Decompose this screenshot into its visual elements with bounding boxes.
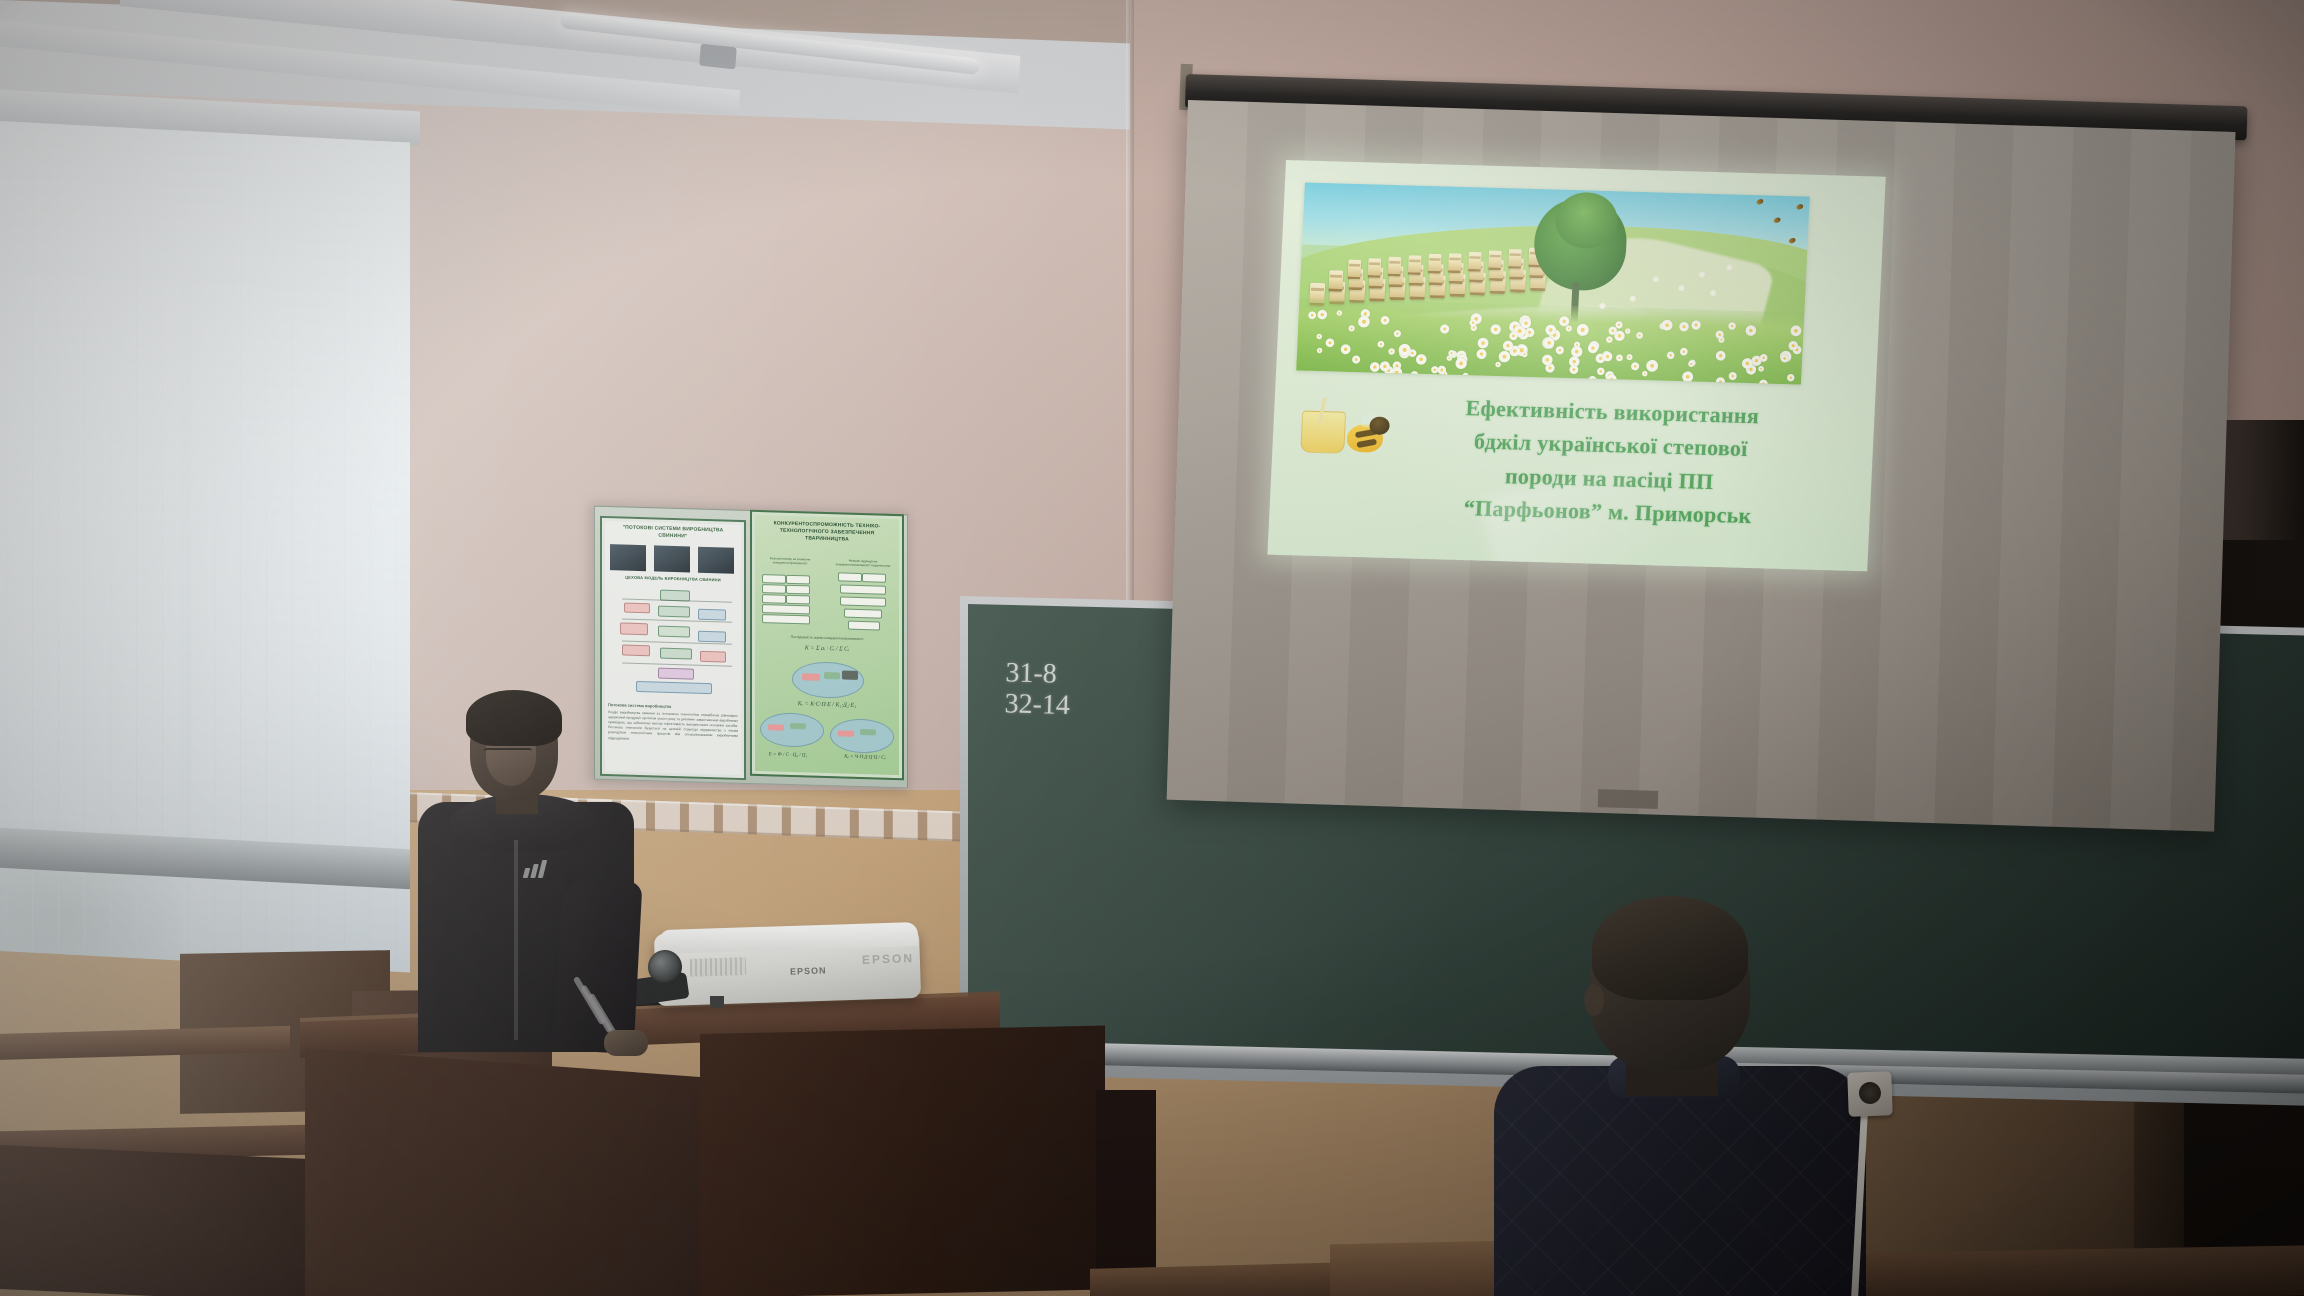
flow-node [620, 622, 648, 635]
illustration-beehive [1348, 260, 1362, 280]
presenter-student [408, 690, 643, 1050]
illustration-beehive [1468, 251, 1482, 271]
poster-left-title: "ПОТОКОВІ СИСТЕМИ ВИРОБНИЦТВА СВИНИНИ" [608, 524, 738, 541]
presenter-hair [466, 690, 562, 746]
illustration-beehive [1428, 254, 1442, 274]
illustration-daisy [1308, 311, 1316, 319]
illustration-daisy [1606, 374, 1617, 384]
podium-side-panel-far [1096, 1090, 1156, 1296]
illustration-daisy [1606, 336, 1613, 343]
illustration-beehive [1408, 255, 1422, 275]
matrix-cell [844, 609, 882, 619]
illustration-daisy [1463, 373, 1469, 379]
matrix-cell-wide [840, 584, 886, 594]
apiary-meadow-illustration [1296, 183, 1810, 385]
illustration-daisy [1521, 318, 1532, 328]
illustration-daisy [1576, 324, 1589, 336]
flow-node [658, 668, 694, 680]
illustration-daisy [1351, 356, 1360, 364]
projector-brand-label: EPSON [790, 965, 827, 976]
viewer-hair [1592, 896, 1748, 1000]
socket-hole [1859, 1082, 1882, 1105]
matrix-cell [862, 573, 886, 583]
flow-node [622, 644, 650, 656]
presenter-arm [554, 878, 643, 1054]
flow-node [624, 603, 650, 614]
illustration-daisy [1377, 341, 1384, 348]
viewer-jacket-quilting [1494, 1066, 1866, 1296]
formula-3: Е = Ф / С · Ц₀ / Ц₁ [756, 752, 820, 759]
illustration-beehive [1328, 270, 1343, 292]
projector-brand-label-large: EPSON [862, 951, 914, 967]
wall-power-socket[interactable] [1847, 1071, 1893, 1117]
formula-2: Kᵣ = K·С·П·Е / К₁·Д₁·Е₁ [752, 700, 902, 710]
formula-4: Кₑ = Ч·П·Д·Ц·Ц / Сₑ [832, 754, 898, 761]
venn-chip [838, 730, 854, 736]
poster-photo-1 [610, 544, 646, 571]
poster-right-col2-header: Резерви підвищення конкурентоспроможност… [832, 558, 894, 568]
illustration-daisy [1742, 358, 1753, 369]
matrix-cell [786, 595, 810, 605]
illustration-daisy [1495, 361, 1501, 367]
matrix-cell [848, 621, 880, 631]
matrix-cell [786, 575, 810, 585]
matrix-cell [762, 574, 786, 584]
illustration-daisy [1521, 351, 1527, 357]
flow-node [658, 606, 690, 618]
flow-node-wide [636, 681, 712, 694]
student-desk-front [0, 1145, 320, 1296]
illustration-beehive [1488, 250, 1502, 270]
illustration-daisy [1682, 371, 1693, 382]
projector-foot [710, 996, 724, 1008]
matrix-cell-wide [762, 614, 810, 624]
illustration-daisy [1566, 325, 1573, 331]
poster-photo-2 [654, 545, 690, 572]
illustration-daisy [1410, 371, 1418, 379]
illustration-daisy [1441, 371, 1447, 377]
glasses-icon [484, 748, 532, 760]
illustration-daisy [1787, 374, 1795, 382]
flow-node [660, 648, 692, 660]
venn-chip [768, 724, 784, 730]
poster-right-title: КОНКУРЕНТОСПРОМОЖНІСТЬ ТЕХНІКО-ТЕХНОЛОГІ… [758, 520, 896, 544]
venn-chip [860, 729, 876, 735]
venn-chip [790, 723, 806, 729]
illustration-daisy [1716, 377, 1725, 385]
venn-chip [802, 673, 820, 681]
illustration-daisy [1509, 332, 1518, 341]
poster-right-section-label: Послідовність оцінки конкурентоспроможно… [752, 634, 902, 642]
illustration-daisy [1340, 344, 1350, 354]
flow-node [658, 626, 690, 638]
adidas-logo-icon [524, 860, 550, 878]
seated-audience-member [1480, 900, 1870, 1296]
matrix-cell [786, 585, 810, 595]
illustration-beehive [1388, 257, 1402, 277]
illustration-daisy [1439, 324, 1449, 333]
flow-node [698, 609, 726, 621]
matrix-cell-wide [762, 604, 810, 614]
jacket-zipper [514, 840, 518, 1040]
matrix-cell [762, 594, 786, 604]
matrix-cell [838, 572, 862, 582]
matrix-cell-wide [840, 596, 886, 606]
illustration-beehive [1368, 258, 1382, 278]
matrix-cell [762, 584, 786, 594]
illustration-daisy [1588, 343, 1599, 353]
light-fixture-cap [699, 44, 736, 70]
illustration-daisy [1394, 330, 1401, 337]
illustration-daisy [1569, 365, 1578, 374]
illustration-daisy [1759, 379, 1768, 384]
illustration-daisy [1728, 371, 1736, 379]
poster-left-subtitle: ЦЕХОВА МОДЕЛЬ ВИРОБНИЦТВА СВИНИНИ [608, 574, 738, 583]
presenter-hand [604, 1030, 648, 1056]
venn-chip [842, 670, 858, 679]
poster-right-col1-header: Фактори впливу на зниження конкурентоспр… [760, 556, 820, 566]
poster-competitiveness[interactable]: КОНКУРЕНТОСПРОМОЖНІСТЬ ТЕХНІКО-ТЕХНОЛОГІ… [750, 510, 904, 781]
illustration-beehive [1508, 249, 1522, 269]
classroom-photo-scene: "ПОТОКОВІ СИСТЕМИ ВИРОБНИЦТВА СВИНИНИ" Ц… [0, 0, 2304, 1296]
poster-photo-3 [698, 547, 734, 574]
projection-screen-bottom-bar [1598, 789, 1659, 809]
illustration-beehive [1448, 253, 1462, 273]
podium-side-panel [700, 1026, 1105, 1296]
podium-front-panel[interactable] [305, 1048, 705, 1296]
projector-vent [690, 957, 747, 977]
viewer-ear [1584, 984, 1604, 1016]
illustration-daisy [1588, 376, 1597, 384]
flow-node [698, 631, 726, 643]
formula-1: K = Σ aᵢ · Cᵢ / Σ Cᵢ [752, 644, 902, 654]
venn-chip [824, 672, 840, 679]
projected-slide: Ефективність використання бджіл українсь… [1267, 160, 1885, 571]
flow-node [700, 651, 726, 663]
